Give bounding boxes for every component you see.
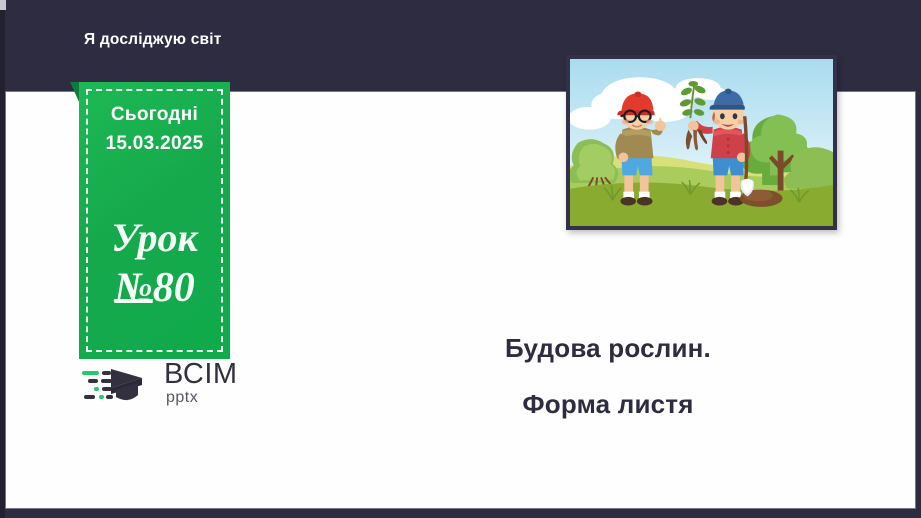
slide-corner-nub [0,0,6,10]
number-sign: № [114,265,152,311]
lesson-date: 15.03.2025 [79,133,230,155]
page-title: Я досліджую світ [84,31,222,49]
logo-brand-text: ВСІМ [164,360,238,389]
today-label: Сьогодні [79,104,230,126]
lesson-illustration [566,55,837,230]
two-boys-planting-tree-image [570,59,833,226]
lesson-date-ribbon: Сьогодні 15.03.2025 Урок №80 [79,82,230,359]
lesson-number: 80 [153,265,195,311]
lesson-heading-line2: Форма листя [378,389,838,420]
graduation-cap-icon [80,364,158,410]
logo-wordmark: ВСІМ pptx [164,360,238,406]
slide-canvas: Я досліджую світ Сьогодні 15.03.2025 Уро… [0,0,921,518]
ribbon-body: Сьогодні 15.03.2025 Урок №80 [79,82,230,359]
lesson-heading-line1: Будова рослин. [378,333,838,364]
brand-logo: ВСІМ pptx [80,362,240,414]
slide-left-edge [0,0,5,518]
logo-suffix-text: pptx [166,390,238,406]
lesson-word: Урок [79,218,230,259]
lesson-number-line: №80 [79,267,230,310]
